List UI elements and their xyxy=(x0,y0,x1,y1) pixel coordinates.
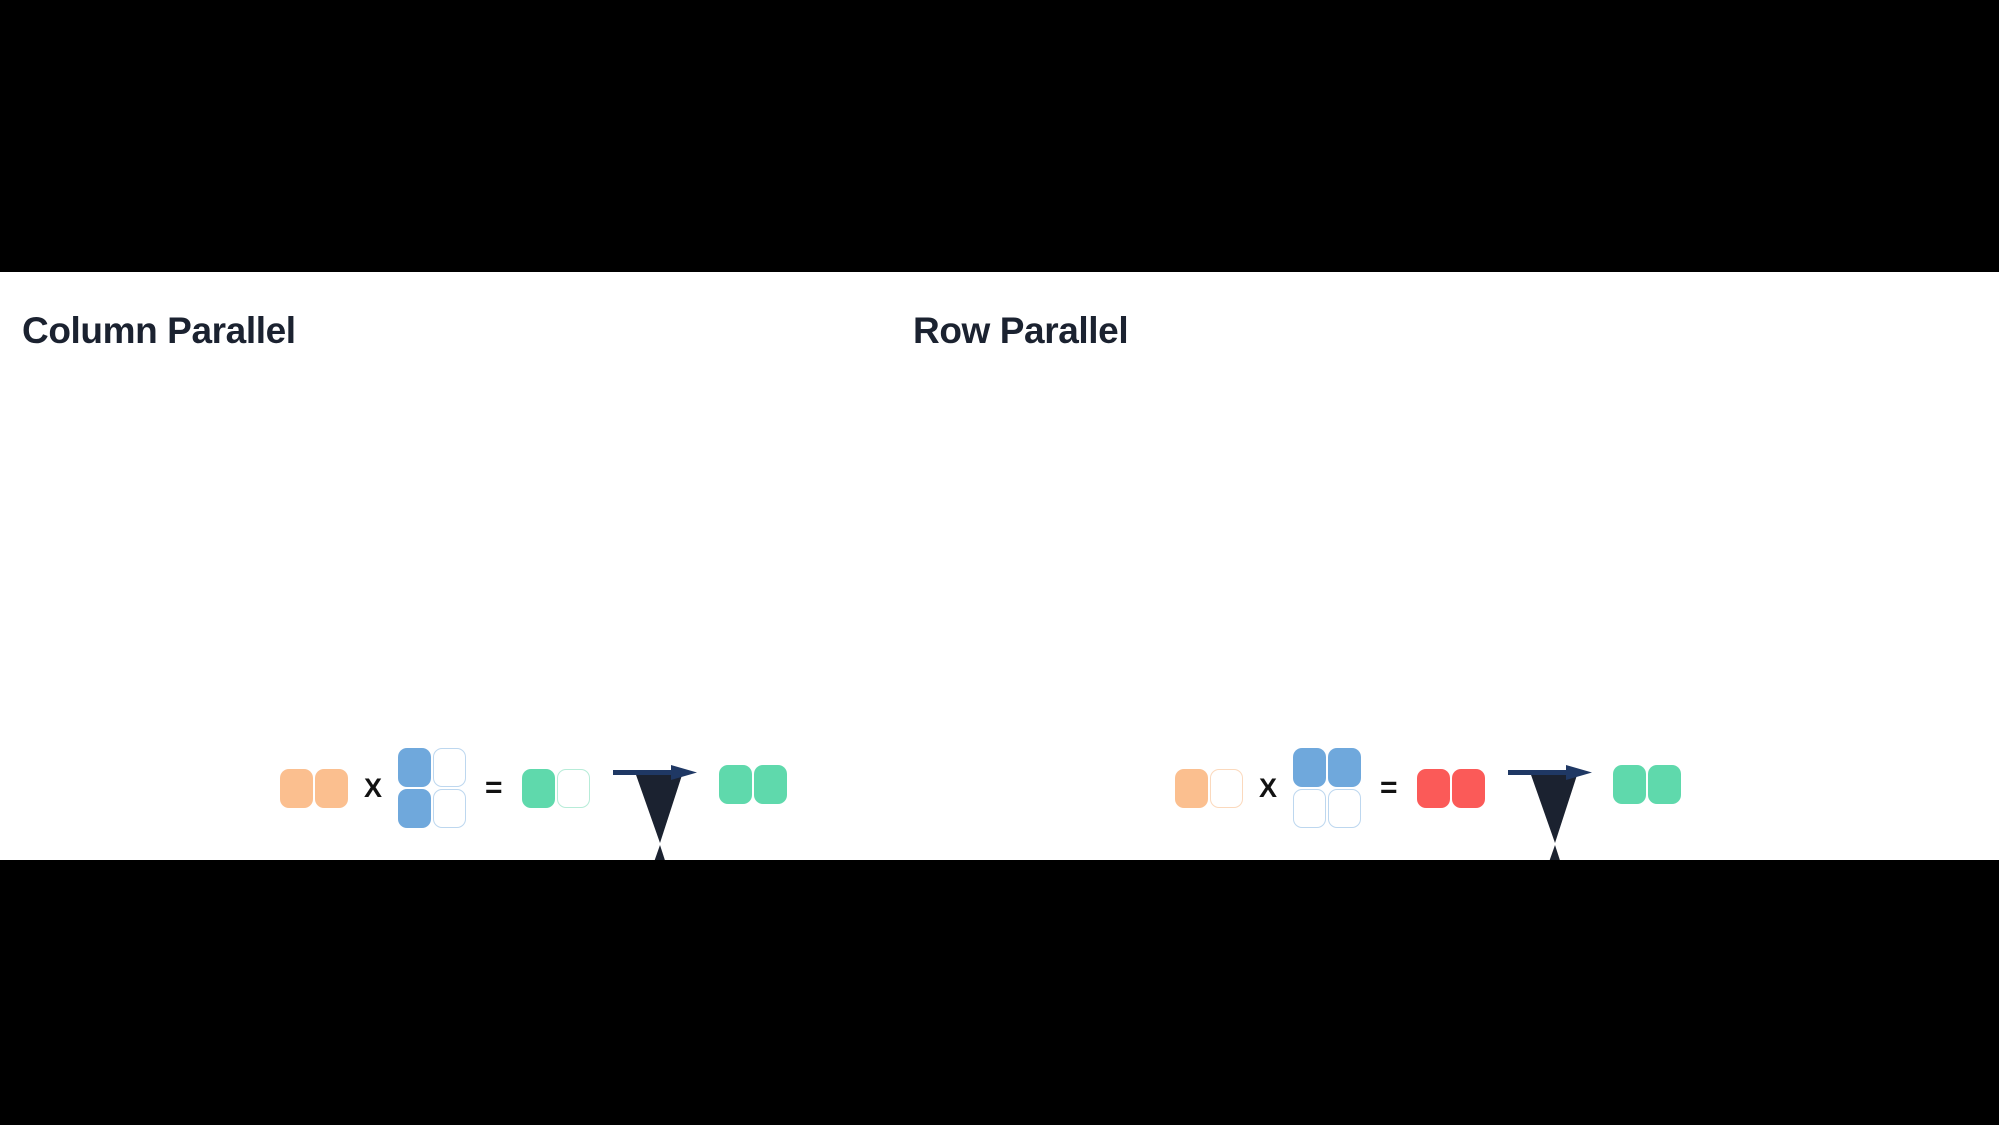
matrix-cell xyxy=(280,769,313,808)
matrix-cell xyxy=(522,769,555,808)
matrix-cell xyxy=(1328,748,1361,787)
panel-row-parallel: Row Parallel X = xyxy=(900,272,1999,860)
matrix-cell xyxy=(398,748,431,787)
equals-symbol: = xyxy=(1380,773,1398,803)
input-vector xyxy=(1175,769,1243,808)
diagram-stage: Column Parallel X = xyxy=(0,272,1999,860)
multiply-symbol: X xyxy=(1259,775,1277,802)
weight-matrix xyxy=(1293,748,1361,828)
equals-symbol: = xyxy=(485,773,503,803)
matrix-cell xyxy=(719,765,752,804)
letterbox-top xyxy=(0,0,1999,272)
matrix-cell xyxy=(754,765,787,804)
output-vector xyxy=(1613,765,1681,804)
matrix-cell xyxy=(557,769,590,808)
multiply-symbol: X xyxy=(364,775,382,802)
panel-column-parallel: Column Parallel X = xyxy=(0,272,900,860)
matrix-cell xyxy=(1328,789,1361,828)
panel-title-column-parallel: Column Parallel xyxy=(22,310,296,352)
matrix-cell xyxy=(398,789,431,828)
matrix-cell xyxy=(433,748,466,787)
matrix-cell xyxy=(1175,769,1208,808)
matrix-cell xyxy=(1417,769,1450,808)
matrix-cell xyxy=(1293,789,1326,828)
matrix-cell xyxy=(315,769,348,808)
letterbox-bottom xyxy=(0,860,1999,1125)
equation-row: X = xyxy=(1175,742,1485,834)
panel-title-row-parallel: Row Parallel xyxy=(913,310,1128,352)
equation-row: X = xyxy=(280,742,590,834)
input-vector xyxy=(280,769,348,808)
output-vector xyxy=(719,765,787,804)
result-vector xyxy=(522,769,590,808)
matrix-cell xyxy=(1452,769,1485,808)
result-vector xyxy=(1417,769,1485,808)
matrix-cell xyxy=(1648,765,1681,804)
matrix-cell xyxy=(1613,765,1646,804)
matrix-cell xyxy=(433,789,466,828)
weight-matrix xyxy=(398,748,466,828)
matrix-cell xyxy=(1293,748,1326,787)
matrix-cell xyxy=(1210,769,1243,808)
